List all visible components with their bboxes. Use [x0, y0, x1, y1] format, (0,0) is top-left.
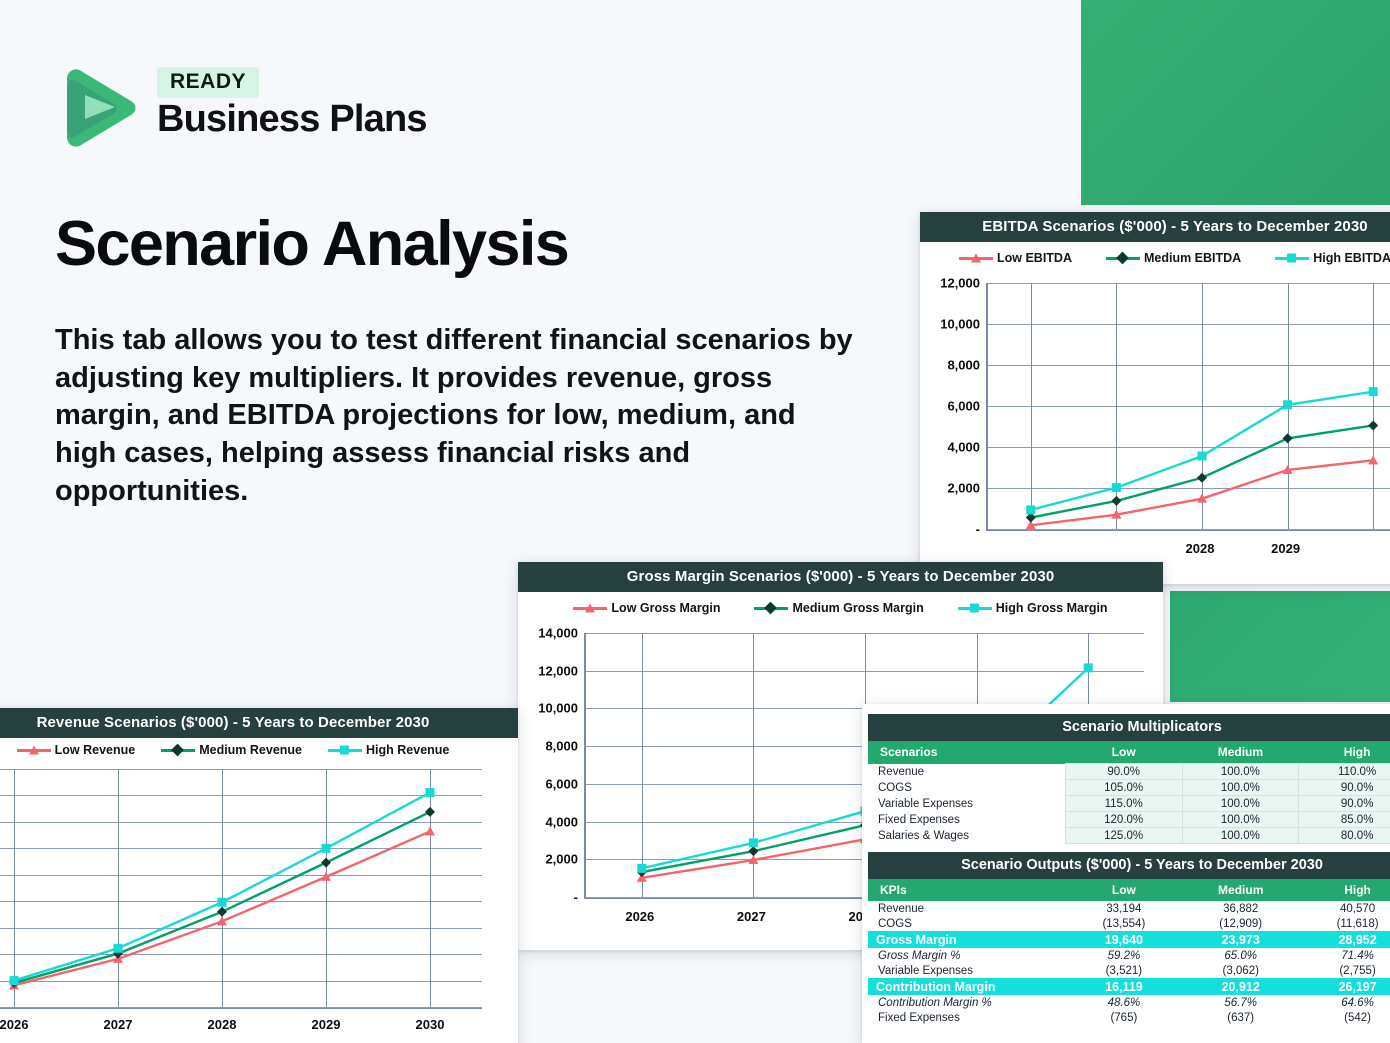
table-header-row: KPIs Low Medium High	[868, 879, 1390, 901]
cell-low: 19,640	[1065, 931, 1182, 948]
series-line	[1031, 392, 1373, 510]
cell-high: (2,755)	[1299, 963, 1390, 978]
cell-high: 90.0%	[1299, 780, 1390, 796]
legend-line-high-revenue	[328, 749, 362, 752]
x-axis-tick: 2026	[625, 909, 654, 924]
y-axis-tick: -	[976, 522, 980, 537]
series-marker	[1112, 483, 1121, 492]
cell-high: (11,618)	[1299, 916, 1390, 931]
table-header-row: Scenarios Low Medium High	[868, 741, 1390, 764]
revenue-chart-title: Revenue Scenarios ($'000) - 5 Years to D…	[0, 708, 518, 738]
col-header-medium: Medium	[1182, 879, 1299, 901]
y-axis-tick: 8,000	[947, 358, 980, 373]
row-label: COGS	[868, 916, 1065, 931]
cell-medium: 20,912	[1182, 978, 1299, 995]
gross-margin-chart-title: Gross Margin Scenarios ($'000) - 5 Years…	[518, 562, 1163, 592]
decorative-green-block-top-right	[1081, 0, 1390, 205]
legend-item-high-gross-margin: High Gross Margin	[958, 601, 1108, 615]
ebitda-chart-title: EBITDA Scenarios ($'000) - 5 Years to De…	[920, 212, 1390, 242]
slide-canvas: READY Business Plans Scenario Analysis T…	[0, 0, 1390, 1043]
legend-line-medium-revenue	[161, 749, 195, 752]
row-label: Contribution Margin %	[868, 995, 1065, 1010]
legend-line-low-revenue	[17, 749, 51, 752]
y-axis-tick: 6,000	[545, 776, 578, 791]
cell-low: 33,194	[1065, 901, 1182, 916]
x-axis-tick: 2028	[1186, 541, 1215, 556]
y-axis-tick: 14,000	[538, 626, 578, 641]
legend-item-high-ebitda: High EBITDA	[1275, 251, 1390, 265]
series-line	[1031, 425, 1373, 517]
legend-item-high-revenue: High Revenue	[328, 743, 449, 757]
cell-low: 120.0%	[1065, 812, 1182, 828]
cell-high: 40,570	[1299, 901, 1390, 916]
col-header-high: High	[1299, 741, 1390, 764]
series-marker	[1197, 473, 1207, 483]
cell-medium: 23,973	[1182, 931, 1299, 948]
row-label: Salaries & Wages	[868, 828, 1065, 844]
row-label: Gross Margin %	[868, 948, 1065, 963]
cell-low: (3,521)	[1065, 963, 1182, 978]
scenario-outputs-title: Scenario Outputs ($'000) - 5 Years to De…	[868, 852, 1390, 879]
row-label: Fixed Expenses	[868, 1010, 1065, 1025]
legend-line-high-gross-margin	[958, 607, 992, 610]
table-row: Contribution Margin16,11920,91226,197	[868, 978, 1390, 995]
series-marker	[217, 907, 227, 917]
series-layer	[988, 283, 1390, 529]
table-row: Variable Expenses(3,521)(3,062)(2,755)	[868, 963, 1390, 978]
series-marker	[748, 846, 758, 856]
cell-medium: 100.0%	[1182, 796, 1299, 812]
col-header-medium: Medium	[1182, 741, 1299, 764]
cell-low: 16,119	[1065, 978, 1182, 995]
col-header-scenarios: Scenarios	[868, 741, 1065, 764]
col-header-kpis: KPIs	[868, 879, 1065, 901]
row-label: Revenue	[868, 901, 1065, 916]
cell-high: 28,952	[1299, 931, 1390, 948]
scenario-outputs-table: KPIs Low Medium High Revenue33,19436,882…	[868, 879, 1390, 1025]
y-axis-tick: 8,000	[545, 739, 578, 754]
series-marker	[637, 864, 646, 873]
page-description: This tab allows you to test different fi…	[55, 322, 855, 510]
legend-line-medium-gross-margin	[754, 607, 788, 610]
legend-label-low-gross-margin: Low Gross Margin	[611, 601, 720, 615]
cell-low: 105.0%	[1065, 780, 1182, 796]
y-axis-tick: 10,000	[940, 317, 980, 332]
cell-low: 125.0%	[1065, 828, 1182, 844]
ebitda-plot	[986, 283, 1390, 531]
y-axis-tick: -	[574, 890, 578, 905]
legend-item-low-revenue: Low Revenue	[17, 743, 136, 757]
series-marker	[114, 944, 123, 953]
gross-margin-y-axis-labels: -2,0004,0006,0008,00010,00012,00014,000	[518, 619, 578, 899]
series-marker	[1283, 400, 1292, 409]
row-label: Variable Expenses	[868, 796, 1065, 812]
legend-item-medium-revenue: Medium Revenue	[161, 743, 302, 757]
x-axis-tick: 2029	[1271, 541, 1300, 556]
scenario-multiplicators-table: Scenarios Low Medium High Revenue90.0%10…	[868, 741, 1390, 844]
series-marker	[425, 826, 435, 835]
y-axis-tick: 10,000	[538, 701, 578, 716]
legend-label-high-gross-margin: High Gross Margin	[996, 601, 1108, 615]
cell-medium: 100.0%	[1182, 764, 1299, 780]
series-marker	[1084, 663, 1093, 672]
y-axis-tick: 12,000	[538, 663, 578, 678]
cell-high: 26,197	[1299, 978, 1390, 995]
y-axis-tick: 2,000	[545, 852, 578, 867]
cell-low: 48.6%	[1065, 995, 1182, 1010]
revenue-plot-area: 20262027202820292030	[0, 759, 518, 1029]
legend-item-low-ebitda: Low EBITDA	[959, 251, 1072, 265]
series-marker	[10, 976, 19, 985]
col-header-low: Low	[1065, 879, 1182, 901]
col-header-high: High	[1299, 879, 1390, 901]
legend-label-low-revenue: Low Revenue	[55, 743, 136, 757]
series-marker	[1198, 452, 1207, 461]
series-marker	[322, 844, 331, 853]
ebitda-y-axis-labels: -2,0004,0006,0008,00010,00012,000	[920, 269, 980, 529]
cell-high: 85.0%	[1299, 812, 1390, 828]
legend-label-medium-ebitda: Medium EBITDA	[1144, 251, 1241, 265]
series-marker	[749, 838, 758, 847]
x-axis-tick: 2028	[208, 1017, 237, 1032]
legend-item-low-gross-margin: Low Gross Margin	[573, 601, 720, 615]
gridline-horizontal	[988, 529, 1390, 530]
legend-label-medium-gross-margin: Medium Gross Margin	[792, 601, 923, 615]
series-marker	[1026, 505, 1035, 514]
revenue-chart-panel: Revenue Scenarios ($'000) - 5 Years to D…	[0, 708, 518, 1043]
cell-medium: (3,062)	[1182, 963, 1299, 978]
cell-low: 90.0%	[1065, 764, 1182, 780]
gridline-horizontal	[0, 1007, 482, 1008]
x-axis-tick: 2027	[104, 1017, 133, 1032]
table-row: Contribution Margin %48.6%56.7%64.6%	[868, 995, 1390, 1010]
y-axis-tick: 6,000	[947, 399, 980, 414]
legend-label-medium-revenue: Medium Revenue	[199, 743, 302, 757]
legend-label-high-ebitda: High EBITDA	[1313, 251, 1390, 265]
series-marker	[1369, 387, 1378, 396]
cell-low: (13,554)	[1065, 916, 1182, 931]
legend-line-low-gross-margin	[573, 607, 607, 610]
series-marker	[218, 898, 227, 907]
table-row: Gross Margin %59.2%65.0%71.4%	[868, 948, 1390, 963]
legend-line-low-ebitda	[959, 257, 993, 260]
legend-label-low-ebitda: Low EBITDA	[997, 251, 1072, 265]
cell-low: 59.2%	[1065, 948, 1182, 963]
table-row: Fixed Expenses120.0%100.0%85.0%	[868, 812, 1390, 828]
table-row: COGS(13,554)(12,909)(11,618)	[868, 916, 1390, 931]
series-marker	[426, 788, 435, 797]
series-marker	[1283, 433, 1293, 443]
cell-high: (542)	[1299, 1010, 1390, 1025]
y-axis-tick: 2,000	[947, 481, 980, 496]
ebitda-chart-panel: EBITDA Scenarios ($'000) - 5 Years to De…	[920, 212, 1390, 584]
y-axis-tick: 12,000	[940, 276, 980, 291]
ebitda-chart-legend: Low EBITDA Medium EBITDA High EBITDA	[920, 242, 1390, 269]
revenue-plot	[0, 769, 482, 1009]
series-marker	[1368, 420, 1378, 430]
cell-high: 71.4%	[1299, 948, 1390, 963]
table-row: Revenue90.0%100.0%110.0%	[868, 764, 1390, 780]
table-row: Gross Margin19,64023,97328,952	[868, 931, 1390, 948]
cell-high: 64.6%	[1299, 995, 1390, 1010]
brand-logo: READY Business Plans	[55, 57, 427, 149]
cell-low: 115.0%	[1065, 796, 1182, 812]
cell-high: 110.0%	[1299, 764, 1390, 780]
cell-medium: 36,882	[1182, 901, 1299, 916]
cell-medium: 100.0%	[1182, 812, 1299, 828]
revenue-chart-legend: Low Revenue Medium Revenue High Revenue	[0, 738, 518, 759]
series-marker	[425, 807, 435, 817]
row-label: Contribution Margin	[868, 978, 1065, 995]
row-label: Revenue	[868, 764, 1065, 780]
table-row: Revenue33,19436,88240,570	[868, 901, 1390, 916]
cell-medium: 100.0%	[1182, 780, 1299, 796]
y-axis-tick: 4,000	[545, 814, 578, 829]
cell-medium: 100.0%	[1182, 828, 1299, 844]
series-line	[14, 792, 430, 980]
table-row: Variable Expenses115.0%100.0%90.0%	[868, 796, 1390, 812]
row-label: Fixed Expenses	[868, 812, 1065, 828]
cell-medium: 65.0%	[1182, 948, 1299, 963]
scenario-multiplicators-title: Scenario Multiplicators	[868, 714, 1390, 741]
legend-line-medium-ebitda	[1106, 257, 1140, 260]
cell-low: (765)	[1065, 1010, 1182, 1025]
play-triangle-logo-icon	[55, 57, 141, 149]
brand-name: Business Plans	[157, 100, 427, 140]
legend-item-medium-gross-margin: Medium Gross Margin	[754, 601, 923, 615]
row-label: Gross Margin	[868, 931, 1065, 948]
legend-line-high-ebitda	[1275, 257, 1309, 260]
cell-medium: 56.7%	[1182, 995, 1299, 1010]
gross-margin-chart-legend: Low Gross Margin Medium Gross Margin Hig…	[518, 592, 1163, 619]
x-axis-tick: 2030	[416, 1017, 445, 1032]
col-header-low: Low	[1065, 741, 1182, 764]
legend-label-high-revenue: High Revenue	[366, 743, 449, 757]
series-line	[14, 812, 430, 983]
x-axis-tick: 2027	[737, 909, 766, 924]
scenario-tables-panel: Scenario Multiplicators Scenarios Low Me…	[862, 704, 1390, 1043]
x-axis-tick: 2026	[0, 1017, 28, 1032]
cell-high: 80.0%	[1299, 828, 1390, 844]
table-row: COGS105.0%100.0%90.0%	[868, 780, 1390, 796]
series-layer	[0, 769, 482, 1007]
decorative-green-block-middle-right	[1170, 591, 1390, 702]
ready-badge: READY	[157, 67, 259, 98]
page-title: Scenario Analysis	[55, 208, 568, 280]
table-row: Fixed Expenses(765)(637)(542)	[868, 1010, 1390, 1025]
cell-high: 90.0%	[1299, 796, 1390, 812]
series-marker	[321, 858, 331, 868]
ebitda-plot-area: -2,0004,0006,0008,00010,00012,000 202820…	[920, 269, 1390, 559]
cell-medium: (12,909)	[1182, 916, 1299, 931]
row-label: Variable Expenses	[868, 963, 1065, 978]
row-label: COGS	[868, 780, 1065, 796]
y-axis-tick: 4,000	[947, 440, 980, 455]
cell-medium: (637)	[1182, 1010, 1299, 1025]
table-row: Salaries & Wages125.0%100.0%80.0%	[868, 828, 1390, 844]
series-marker	[1111, 496, 1121, 506]
legend-item-medium-ebitda: Medium EBITDA	[1106, 251, 1241, 265]
series-line	[1031, 460, 1373, 525]
x-axis-tick: 2029	[312, 1017, 341, 1032]
